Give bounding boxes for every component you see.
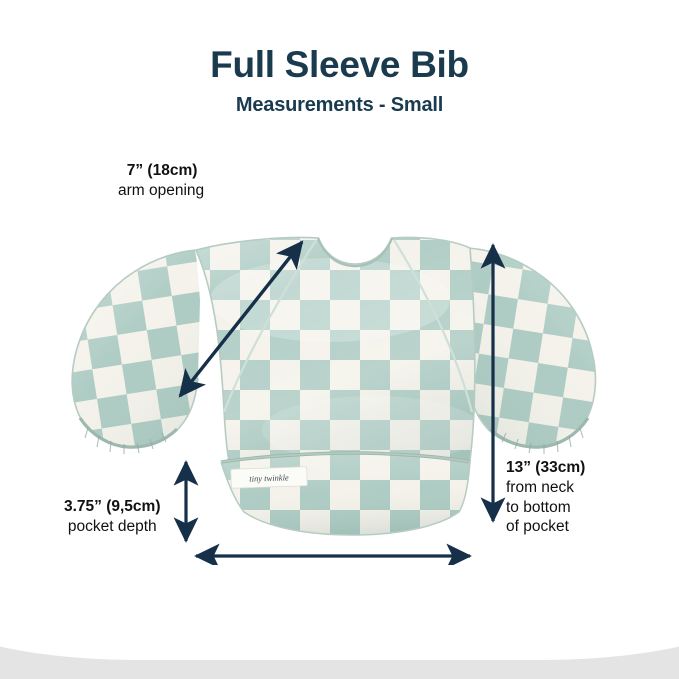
annotation-neck-to-pocket: 13” (33cm) from neck to bottom of pocket: [506, 458, 585, 537]
neck-to-pocket-description-3: of pocket: [506, 517, 585, 537]
arm-opening-description: arm opening: [118, 181, 204, 201]
bottom-white-curve: [0, 565, 679, 660]
neck-to-pocket-description-1: from neck: [506, 478, 585, 498]
annotation-pocket-depth: 3.75” (9,5cm) pocket depth: [64, 497, 161, 537]
pocket-depth-description: pocket depth: [64, 517, 161, 537]
neck-to-pocket-description-2: to bottom: [506, 498, 585, 518]
neck-to-pocket-value: 13” (33cm): [506, 458, 585, 478]
measurement-diagram-page: Full Sleeve Bib Measurements - Small: [0, 0, 679, 679]
brand-label-text: tiny twinkle: [249, 472, 289, 483]
annotation-arm-opening: 7” (18cm) arm opening: [118, 161, 204, 201]
brand-label: tiny twinkle: [231, 467, 308, 489]
front-pocket: tiny twinkle: [200, 445, 500, 545]
pocket-depth-value: 3.75” (9,5cm): [64, 497, 161, 517]
arm-opening-value: 7” (18cm): [120, 161, 204, 181]
